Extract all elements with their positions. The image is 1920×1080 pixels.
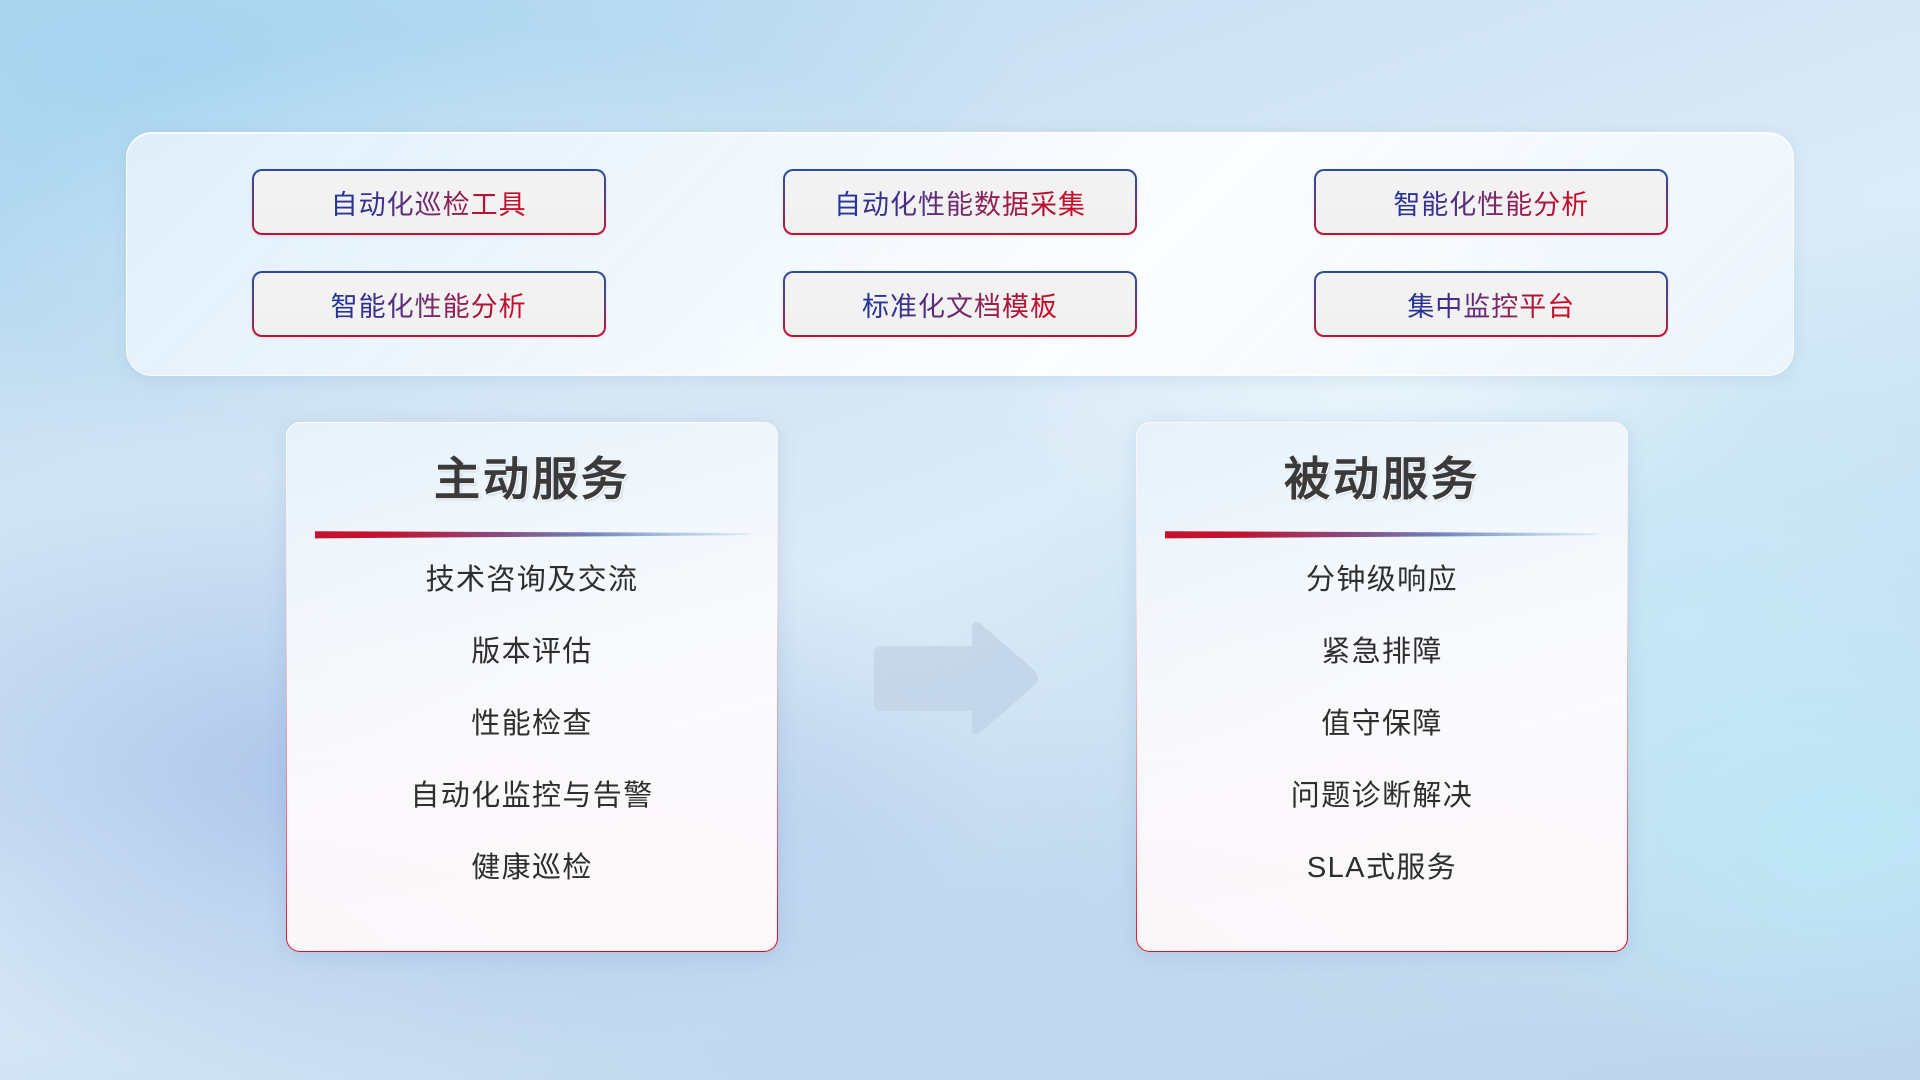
list-item: 版本评估 xyxy=(471,638,593,667)
capability-pill-label: 自动化巡检工具 xyxy=(331,183,527,222)
capability-pill-label: 自动化性能数据采集 xyxy=(834,183,1086,222)
list-item: 性能检查 xyxy=(471,710,593,739)
capability-pill-label: 标准化文档模板 xyxy=(862,285,1058,324)
list-item: 健康巡检 xyxy=(471,854,593,883)
capability-pill-5[interactable]: 标准化文档模板 xyxy=(783,271,1137,337)
list-item: 问题诊断解决 xyxy=(1291,782,1473,811)
right-arrow-icon xyxy=(868,618,1040,740)
capability-pill-grid: 自动化巡检工具 自动化性能数据采集 智能化性能分析 智能化性能分析 标准化文档模… xyxy=(127,133,1793,375)
capability-pill-4[interactable]: 智能化性能分析 xyxy=(252,271,606,337)
capability-pill-2[interactable]: 自动化性能数据采集 xyxy=(783,169,1137,235)
service-list-reactive: 分钟级响应 紧急排障 值守保障 问题诊断解决 SLA式服务 xyxy=(1137,552,1627,883)
capability-pills-panel: 自动化巡检工具 自动化性能数据采集 智能化性能分析 智能化性能分析 标准化文档模… xyxy=(126,132,1794,376)
list-item: SLA式服务 xyxy=(1307,854,1457,883)
list-item: 紧急排障 xyxy=(1321,638,1443,667)
card-divider-reactive xyxy=(1165,528,1599,540)
capability-pill-1[interactable]: 自动化巡检工具 xyxy=(252,169,606,235)
service-card-reactive: 被动服务 分钟级响应 紧急排障 值守保障 问题诊断解决 SLA式服务 xyxy=(1136,422,1628,952)
capability-pill-6[interactable]: 集中监控平台 xyxy=(1314,271,1668,337)
list-item: 技术咨询及交流 xyxy=(426,566,639,595)
service-card-proactive: 主动服务 技术咨询及交流 版本评估 性能检查 自动化监控与告警 健康巡检 xyxy=(286,422,778,952)
service-list-proactive: 技术咨询及交流 版本评估 性能检查 自动化监控与告警 健康巡检 xyxy=(287,552,777,883)
capability-pill-label: 集中监控平台 xyxy=(1407,285,1575,324)
list-item: 自动化监控与告警 xyxy=(410,782,653,811)
list-item: 值守保障 xyxy=(1321,710,1443,739)
capability-pill-label: 智能化性能分析 xyxy=(1393,183,1589,222)
card-title-reactive: 被动服务 xyxy=(1284,453,1480,506)
card-divider-proactive xyxy=(315,528,749,540)
capability-pill-3[interactable]: 智能化性能分析 xyxy=(1314,169,1668,235)
list-item: 分钟级响应 xyxy=(1306,566,1458,595)
card-title-proactive: 主动服务 xyxy=(434,453,630,506)
capability-pill-label: 智能化性能分析 xyxy=(331,285,527,324)
